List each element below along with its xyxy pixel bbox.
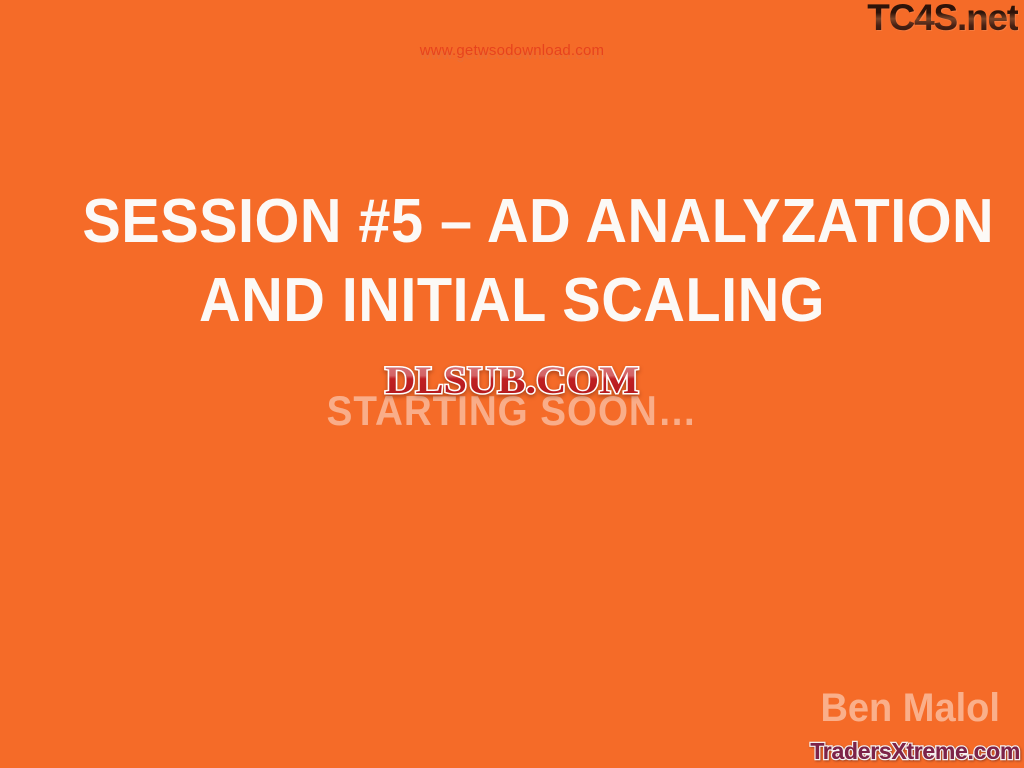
presenter-name: Ben Malol bbox=[821, 686, 1000, 730]
presentation-slide: www.getwsodownload.com TC4S.net SESSION … bbox=[0, 0, 1024, 768]
slide-title-line-1: SESSION #5 – AD ANALYZATION bbox=[82, 182, 941, 261]
tc4s-logo-watermark: TC4S.net bbox=[867, 0, 1018, 37]
tradersxtreme-watermark: TradersXtreme.com TradersXtreme.com bbox=[772, 735, 1020, 765]
tradersxtreme-watermark-outline: TradersXtreme.com bbox=[810, 737, 1020, 765]
slide-title: SESSION #5 – AD ANALYZATION AND INITIAL … bbox=[82, 182, 941, 340]
tradersxtreme-watermark-fill: TradersXtreme.com bbox=[810, 737, 1020, 765]
slide-title-line-2: AND INITIAL SCALING bbox=[82, 261, 941, 340]
starting-soon-status: STARTING SOON… bbox=[41, 389, 983, 433]
source-watermark-top: www.getwsodownload.com bbox=[0, 42, 1024, 59]
